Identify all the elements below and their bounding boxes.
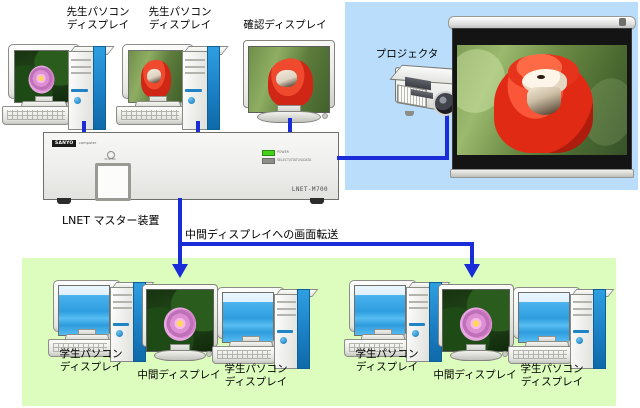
- tower-drive-bay: [185, 59, 205, 61]
- projector-foot: [405, 111, 414, 116]
- screen-image-desktop: [519, 293, 569, 342]
- intermediate-display-1-screen: [146, 289, 213, 352]
- tower-drive-bay: [71, 66, 91, 68]
- tower-drive-bay: [573, 301, 592, 303]
- flow-drop-right: [470, 242, 474, 266]
- lcd-foot: [450, 350, 502, 361]
- teacher-pc-1-tower: [68, 46, 106, 128]
- tower-accent-slot: [277, 330, 293, 333]
- tower-drive-bay: [113, 294, 132, 296]
- flow-stem-vertical: [178, 198, 182, 244]
- teacher-pc-1-keyboard[interactable]: [2, 106, 70, 125]
- student-pc-2-right: [508, 287, 620, 367]
- student-pc-label-line1: 学生パソコン: [210, 363, 302, 376]
- power-led-indicator: [262, 150, 275, 156]
- tower-drive-bay: [277, 301, 296, 303]
- diagram-canvas: 先生パソコン ディスプレイ 先生パソコン ディスプレイ 確認ディスプレイ: [0, 0, 640, 408]
- student-pc-4-keyboard[interactable]: [508, 346, 572, 364]
- lcd-power-led: [322, 113, 328, 119]
- screen-roller-cap: [619, 18, 626, 26]
- power-caption: POWER: [97, 158, 123, 161]
- master-device-caption: LNET マスター装置: [62, 214, 160, 228]
- status-led-label: SELECT/STATUS/DATA: [277, 158, 311, 162]
- screen-image-parrot: [457, 45, 627, 155]
- teacher-pc-2-keyboard[interactable]: [116, 106, 184, 125]
- cable-master-to-projector-v: [445, 115, 449, 160]
- tower-accent-slot: [573, 330, 589, 333]
- screen-image-flower: [15, 51, 68, 103]
- teacher-pc-2-label: 先生パソコン ディスプレイ: [130, 6, 230, 32]
- tower-drive-bay: [113, 301, 132, 303]
- tower-drive-bay: [573, 308, 592, 310]
- tower-drive-bay: [185, 66, 205, 68]
- teacher-pc-1: [2, 44, 117, 128]
- student-pc-label-line1: 学生パソコン: [45, 348, 137, 361]
- lcd-power-led: [502, 351, 508, 357]
- student-pc-2-tower: [274, 289, 310, 367]
- screen-bottom-bar: [450, 169, 634, 178]
- lcd-power-led: [206, 351, 212, 357]
- projected-image: [457, 45, 627, 155]
- master-foot-left: [57, 198, 71, 204]
- lcd-foot: [154, 350, 206, 361]
- flow-arrow-left: [172, 264, 188, 278]
- student-pc-label-line2: ディスプレイ: [341, 361, 433, 374]
- tower-drive-bay: [277, 308, 296, 310]
- intermediate-display-1: [142, 284, 216, 360]
- student-pc-label-line2: ディスプレイ: [45, 361, 137, 374]
- master-main-button[interactable]: [95, 163, 131, 201]
- tower-drive-bay: [409, 307, 428, 309]
- teacher-pc-2-tower: [182, 46, 220, 128]
- tower-drive-bay: [409, 301, 428, 303]
- screen-image-desktop: [355, 286, 405, 335]
- confirm-display-screen: [248, 46, 329, 114]
- tower-drive-bay: [71, 59, 91, 61]
- tower-side-panel: [207, 46, 220, 130]
- screen-image-desktop: [59, 286, 109, 335]
- flow-bus-horizontal: [178, 242, 474, 246]
- student-pc-label-line1: 学生パソコン: [506, 363, 598, 376]
- tower-drive-bay: [277, 314, 296, 316]
- master-foot-right: [310, 198, 324, 204]
- tower-side-panel: [93, 46, 106, 130]
- sanyo-logo-sub: computer: [79, 141, 96, 145]
- student-pc-label-line1: 学生パソコン: [341, 348, 433, 361]
- transfer-flow-label: 中間ディスプレイへの画面転送: [185, 226, 338, 242]
- flow-arrow-right: [464, 264, 480, 278]
- student-pc-2-right-label: 学生パソコン ディスプレイ: [506, 363, 598, 389]
- screen-canvas: [452, 28, 632, 174]
- teacher-pc-2-label-line2: ディスプレイ: [130, 19, 230, 32]
- screen-image-flower: [147, 290, 212, 351]
- teacher-pc-2: [116, 44, 231, 128]
- tower-drive-bay: [573, 314, 592, 316]
- confirm-display-label: 確認ディスプレイ: [235, 19, 335, 32]
- screen-image-parrot: [249, 47, 328, 113]
- tower-side-panel: [297, 289, 310, 369]
- screen-image-flower: [443, 290, 508, 351]
- projector-label: プロジェクタ: [372, 48, 442, 61]
- student-pc-1-left-label: 学生パソコン ディスプレイ: [45, 348, 137, 374]
- teacher-pc-2-label-line1: 先生パソコン: [130, 6, 230, 19]
- tower-drive-bay: [409, 294, 428, 296]
- tower-accent-slot: [71, 89, 88, 92]
- student-pc-2-left-label: 学生パソコン ディスプレイ: [341, 348, 433, 374]
- confirm-display: [243, 40, 333, 122]
- tower-accent-slot: [113, 323, 129, 326]
- screen-image-parrot: [129, 51, 182, 103]
- sanyo-logo: SANYO: [52, 140, 76, 147]
- student-pc-1-right: [212, 287, 324, 367]
- student-pc-4-tower: [570, 289, 606, 367]
- intermediate-display-2: [438, 284, 512, 360]
- tower-drive-bay: [185, 72, 205, 74]
- student-pc-label-line2: ディスプレイ: [506, 376, 598, 389]
- tower-drive-bay: [113, 307, 132, 309]
- lnet-master-device: SANYO computer POWER POWER SELECT/STATUS…: [43, 132, 339, 200]
- tower-accent-slot: [409, 323, 425, 326]
- intermediate-display-2-screen: [442, 289, 509, 352]
- tower-power-button[interactable]: [74, 97, 81, 104]
- screen-image-desktop: [223, 293, 273, 342]
- student-pc-1-right-label: 学生パソコン ディスプレイ: [210, 363, 302, 389]
- status-led-indicator: [262, 158, 275, 164]
- tower-drive-bay: [71, 72, 91, 74]
- tower-power-button[interactable]: [188, 97, 195, 104]
- projection-screen: [452, 28, 630, 172]
- student-pc-label-line2: ディスプレイ: [210, 376, 302, 389]
- tower-accent-slot: [185, 89, 202, 92]
- power-led-label: POWER: [277, 150, 289, 154]
- tower-side-panel: [593, 289, 606, 369]
- master-model-label: LNET-M700: [292, 186, 328, 193]
- student-pc-2-keyboard[interactable]: [212, 346, 276, 364]
- flow-drop-left: [178, 242, 182, 266]
- cable-master-to-projector-h: [337, 156, 449, 160]
